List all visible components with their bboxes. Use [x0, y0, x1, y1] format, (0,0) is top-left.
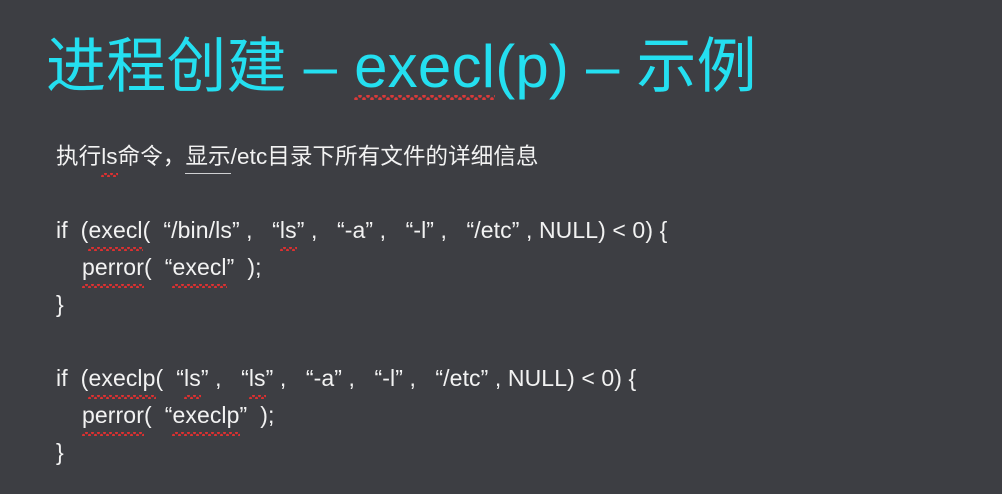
code2-if-a: if ( — [56, 360, 88, 397]
code1-misspelled-ls: ls — [280, 212, 297, 249]
code1-misspelled-perror: perror — [82, 249, 144, 286]
title-misspelled-execl: execl — [354, 31, 495, 103]
intro-text-a: 执行 — [56, 138, 101, 175]
body-spacer-1 — [56, 175, 956, 212]
code1-misspelled-execl: execl — [88, 212, 142, 249]
slide-title: 进程创建 – execl(p) – 示例 — [46, 31, 757, 103]
code1-if-c: ( “/bin/ls” , “ — [143, 212, 280, 249]
code1-if-a: if ( — [56, 212, 88, 249]
intro-grammar-xianshi: 显示 — [185, 138, 230, 175]
code1-if-e: ” , “-a” , “-l” , “/etc” , NULL) < 0) { — [297, 212, 668, 249]
slide-canvas: 进程创建 – execl(p) – 示例 执行ls命令，显示/etc目录下所有文… — [0, 0, 1002, 494]
code1-line-perror: perror( “execl” ); — [56, 249, 956, 286]
title-suffix: (p) – 示例 — [495, 31, 757, 103]
code1-perror-b: ( “ — [144, 249, 173, 286]
code2-perror-d: ” ); — [240, 397, 275, 434]
code1-line-close-brace: } — [56, 286, 956, 323]
code2-line-if: if (execlp( “ls” , “ls” , “-a” , “-l” , … — [56, 360, 956, 397]
code2-line-close-brace: } — [56, 434, 956, 471]
code2-misspelled-ls-1: ls — [184, 360, 201, 397]
body-intro-line: 执行ls命令，显示/etc目录下所有文件的详细信息 — [56, 138, 956, 175]
code2-if-e: ” , “ — [201, 360, 249, 397]
title-prefix: 进程创建 – — [46, 31, 354, 103]
slide-body: 执行ls命令，显示/etc目录下所有文件的详细信息 if (execl( “/b… — [56, 138, 956, 471]
body-spacer-2 — [56, 323, 956, 360]
code2-perror-b: ( “ — [144, 397, 173, 434]
code2-line-perror: perror( “execlp” ); — [56, 397, 956, 434]
code2-misspelled-perror: perror — [82, 397, 144, 434]
code1-line-if: if (execl( “/bin/ls” , “ls” , “-a” , “-l… — [56, 212, 956, 249]
intro-misspelled-ls: ls — [101, 138, 117, 175]
code2-if-g: ” , “-a” , “-l” , “/etc” , NULL) < 0) { — [266, 360, 637, 397]
code2-misspelled-ls-2: ls — [249, 360, 266, 397]
intro-text-e: /etc目录下所有文件的详细信息 — [231, 138, 539, 175]
code2-misspelled-execlp: execlp — [88, 360, 155, 397]
code1-perror-d: ” ); — [227, 249, 262, 286]
code2-misspelled-execlp-arg: execlp — [172, 397, 239, 434]
intro-text-c: 命令， — [118, 138, 186, 175]
code2-if-c: ( “ — [156, 360, 185, 397]
code1-misspelled-execl-arg: execl — [172, 249, 226, 286]
